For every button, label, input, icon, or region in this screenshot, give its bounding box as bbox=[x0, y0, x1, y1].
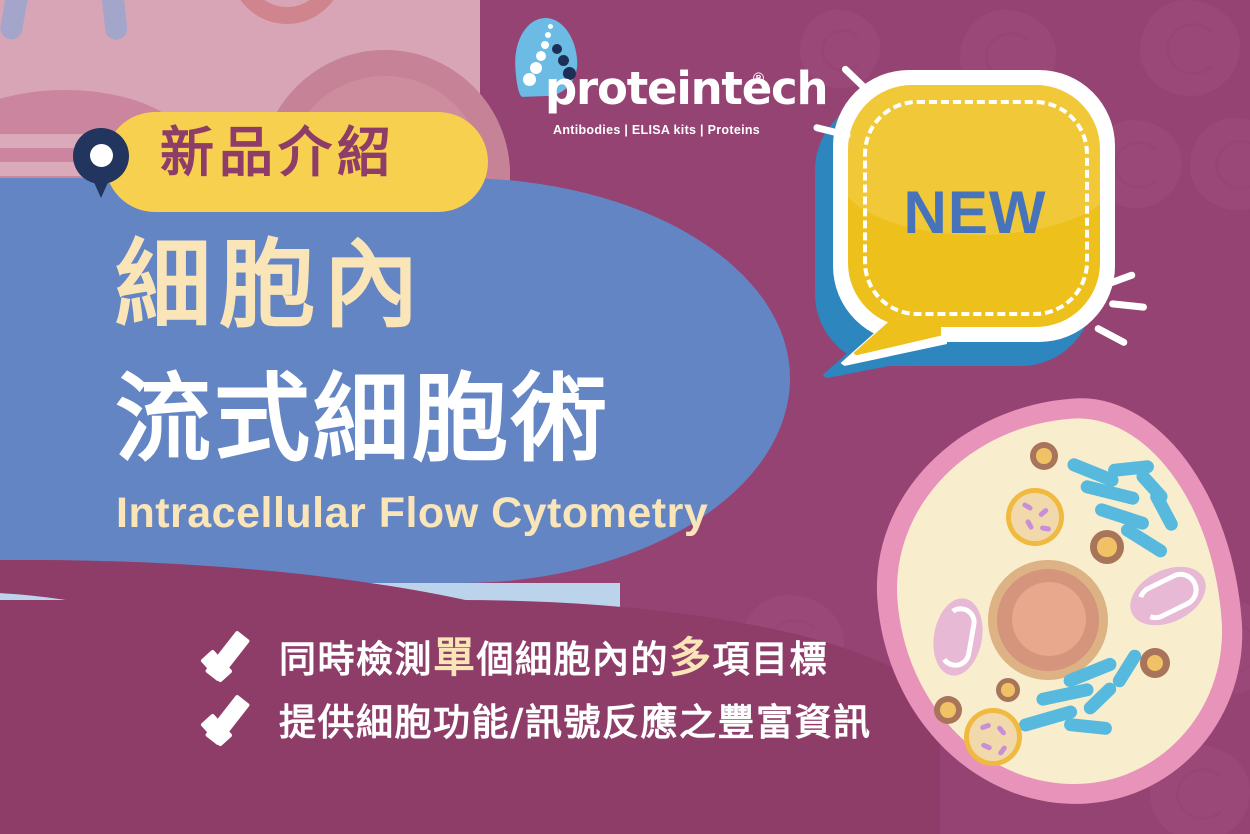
logo-dot bbox=[545, 32, 551, 38]
feature-bullet: 提供細胞功能/訊號反應之豐富資訊 bbox=[205, 692, 872, 746]
lysosome bbox=[1006, 488, 1064, 546]
background-cell-blob bbox=[1140, 0, 1240, 96]
logo-dot bbox=[536, 51, 546, 61]
promo-banner: proteintech ® Antibodies | ELISA kits | … bbox=[0, 0, 1250, 834]
pin-hole bbox=[90, 144, 113, 167]
sparkle-line bbox=[1109, 300, 1148, 311]
sparkle-line bbox=[1093, 324, 1128, 347]
logo-dot bbox=[530, 62, 542, 74]
bullet-text-part: 個細胞內的 bbox=[477, 638, 670, 681]
bullet-text-part: 項目標 bbox=[713, 638, 829, 681]
vesicle-core bbox=[1097, 537, 1116, 556]
map-pin-icon bbox=[73, 128, 129, 198]
logo-dot-navy bbox=[552, 44, 562, 54]
logo-wordmark: proteintech bbox=[545, 66, 827, 111]
headline-line-1: 細胞內 bbox=[115, 237, 427, 333]
vesicle-core bbox=[940, 702, 956, 718]
vesicle-core bbox=[1147, 655, 1164, 672]
bullet-text-part: 同時檢測 bbox=[279, 638, 433, 681]
vesicle bbox=[1140, 648, 1170, 678]
check-icon bbox=[205, 631, 263, 679]
endoplasmic-reticulum bbox=[1066, 462, 1196, 562]
lysosome bbox=[964, 708, 1022, 766]
bullet-highlight: 多 bbox=[669, 633, 713, 682]
lysosome-core bbox=[1011, 493, 1059, 541]
new-speech-bubble: NEW bbox=[815, 70, 1145, 390]
logo-tagline: Antibodies | ELISA kits | Proteins bbox=[553, 123, 760, 137]
feature-bullet-text: 同時檢測單個細胞內的多項目標 bbox=[279, 624, 828, 685]
bg-rod bbox=[0, 0, 39, 41]
bullet-text-part: 提供細胞功能/訊號反應之豐富資訊 bbox=[279, 701, 872, 744]
proteintech-logo[interactable]: proteintech ® Antibodies | ELISA kits | … bbox=[505, 18, 785, 146]
cristae bbox=[937, 604, 979, 671]
registered-trademark-symbol: ® bbox=[753, 70, 764, 87]
lysosome-core bbox=[969, 713, 1017, 761]
bg-rod bbox=[94, 0, 128, 41]
headline-english: Intracellular Flow Cytometry bbox=[116, 492, 708, 535]
logo-dot bbox=[548, 24, 553, 29]
nucleolus bbox=[1012, 582, 1086, 656]
feature-bullet: 同時檢測單個細胞內的多項目標 bbox=[205, 624, 828, 685]
new-badge-label: NEW bbox=[865, 183, 1085, 243]
bullet-highlight: 單 bbox=[433, 633, 477, 682]
endoplasmic-reticulum bbox=[1018, 658, 1158, 748]
animal-cell-diagram bbox=[878, 400, 1240, 820]
feature-bullet-text: 提供細胞功能/訊號反應之豐富資訊 bbox=[279, 692, 872, 746]
vesicle bbox=[1090, 530, 1124, 564]
logo-dot bbox=[541, 41, 549, 49]
headline-line-2: 流式細胞術 bbox=[115, 371, 610, 467]
vesicle bbox=[1030, 442, 1058, 470]
vesicle-core bbox=[1001, 683, 1014, 696]
new-product-badge-label: 新品介紹 bbox=[160, 126, 396, 180]
vesicle-core bbox=[1036, 448, 1052, 464]
bg-ring bbox=[230, 0, 344, 24]
background-cell-blob bbox=[1190, 118, 1250, 210]
vesicle bbox=[996, 678, 1020, 702]
vesicle bbox=[934, 696, 962, 724]
check-icon bbox=[205, 695, 263, 743]
logo-dot bbox=[523, 73, 536, 86]
